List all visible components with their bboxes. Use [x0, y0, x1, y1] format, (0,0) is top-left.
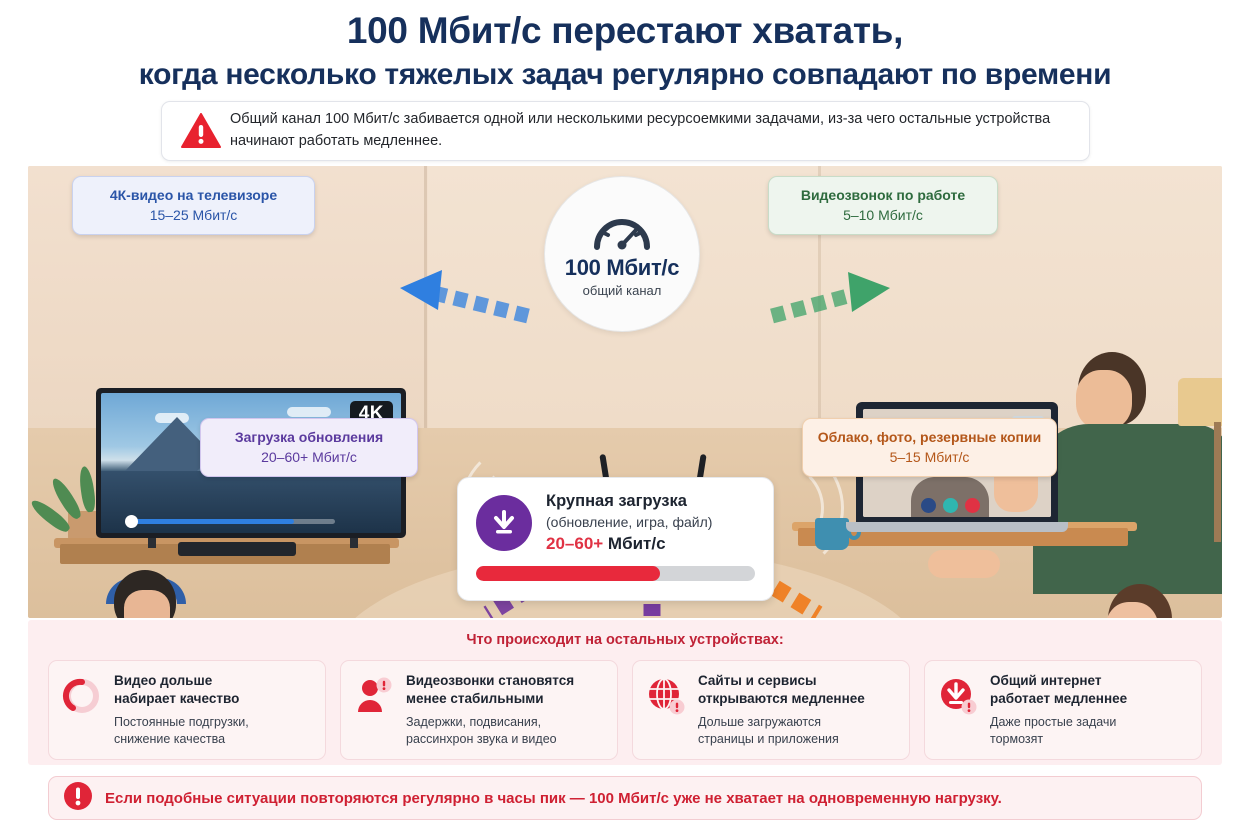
consequence-sites-sub: Дольше загружаются страницы и приложения — [698, 714, 865, 748]
download-circle-icon — [476, 495, 532, 551]
call-end-button[interactable] — [965, 498, 980, 513]
lamp-shade — [1178, 378, 1222, 426]
man-body — [1033, 424, 1222, 594]
consequences-heading: Что происходит на остальных устройствах: — [28, 620, 1222, 648]
download-card-speed-unit: Мбит/с — [603, 534, 665, 553]
infographic-page: 100 Мбит/с перестают хватать, когда неск… — [0, 0, 1250, 833]
large-download-card: Крупная загрузка (обновление, игра, файл… — [457, 477, 774, 601]
consequence-videocall-sub: Задержки, подвисания, рассинхрон звука и… — [406, 714, 574, 748]
callout-tv-speed: 15–25 Мбит/с — [87, 206, 300, 225]
warning-triangle-icon — [178, 113, 224, 149]
consequence-internet-heading: Общий интернет работает медленнее — [990, 672, 1127, 708]
laptop-base — [846, 522, 1068, 532]
call-camera-button[interactable] — [943, 498, 958, 513]
download-card-progress-fill — [476, 566, 660, 581]
speedometer-icon — [591, 211, 653, 251]
callout-videocall: Видеозвонок по работе 5–10 Мбит/с — [768, 176, 998, 235]
download-alert-icon — [937, 672, 979, 748]
download-card-speed-value: 20–60+ — [546, 534, 603, 553]
tv-leg — [148, 538, 156, 548]
man-hand-on-desk — [928, 550, 1000, 578]
callout-tv-title: 4К-видео на телевизоре — [87, 186, 300, 204]
callout-download: Загрузка обновления 20–60+ Мбит/с — [200, 418, 418, 477]
callout-videocall-title: Видеозвонок по работе — [783, 186, 983, 204]
callout-cloud-speed: 5–15 Мбит/с — [817, 448, 1042, 467]
download-card-title: Крупная загрузка — [546, 492, 712, 512]
tv-leg — [350, 538, 358, 548]
speed-gauge: 100 Мбит/с общий канал — [544, 176, 700, 332]
footer-text: Если подобные ситуации повторяются регул… — [93, 790, 1002, 807]
title-line-1: 100 Мбит/с перестают хватать, — [0, 10, 1250, 53]
callout-videocall-speed: 5–10 Мбит/с — [783, 206, 983, 225]
consequence-video-heading: Видео дольше набирает качество — [114, 672, 249, 708]
alert-text: Общий канал 100 Мбит/с забивается одной … — [224, 109, 1073, 153]
call-info-button[interactable] — [921, 498, 936, 513]
consequences-section: Что происходит на остальных устройствах:… — [28, 620, 1222, 765]
download-card-speed: 20–60+ Мбит/с — [546, 534, 712, 554]
gamer-face — [124, 590, 170, 618]
gauge-subtitle: общий канал — [583, 283, 662, 298]
download-card-subtitle: (обновление, игра, файл) — [546, 513, 712, 532]
consequence-card-videocall: Видеозвонки становятся менее стабильными… — [340, 660, 618, 760]
man-face — [1076, 370, 1132, 430]
buffering-ring-icon — [61, 672, 103, 748]
consequences-cards: Видео дольше набирает качество Постоянны… — [28, 648, 1222, 760]
consequence-sites-heading: Сайты и сервисы открываются медленнее — [698, 672, 865, 708]
callout-download-speed: 20–60+ Мбит/с — [215, 448, 403, 467]
cloud-shape — [287, 407, 331, 417]
callout-tv: 4К-видео на телевизоре 15–25 Мбит/с — [72, 176, 315, 235]
coffee-mug — [815, 518, 849, 550]
person-alert-icon — [353, 672, 395, 748]
callout-cloud-title: Облако, фото, резервные копии — [817, 428, 1042, 446]
consequence-card-sites: Сайты и сервисы открываются медленнее До… — [632, 660, 910, 760]
consequence-internet-sub: Даже простые задачи тормозят — [990, 714, 1127, 748]
gauge-value: 100 Мбит/с — [565, 255, 679, 281]
alert-circle-icon — [63, 781, 93, 816]
lamp-pole — [1214, 422, 1221, 542]
footer-banner: Если подобные ситуации повторяются регул… — [48, 776, 1202, 820]
callout-download-title: Загрузка обновления — [215, 428, 403, 446]
tv-playback-bar[interactable] — [131, 519, 335, 524]
consequence-card-internet: Общий интернет работает медленнее Даже п… — [924, 660, 1202, 760]
consequence-card-video: Видео дольше набирает качество Постоянны… — [48, 660, 326, 760]
page-title: 100 Мбит/с перестают хватать, когда неск… — [0, 0, 1250, 93]
wall-seam-left — [424, 166, 427, 428]
tv-playback-fill — [131, 519, 294, 524]
download-card-progress — [476, 566, 755, 581]
consequence-videocall-heading: Видеозвонки становятся менее стабильными — [406, 672, 574, 708]
globe-alert-icon — [645, 672, 687, 748]
consequence-video-sub: Постоянные подгрузки, снижение качества — [114, 714, 249, 748]
title-line-2: когда несколько тяжелых задач регулярно … — [0, 57, 1250, 93]
alert-banner: Общий канал 100 Мбит/с забивается одной … — [161, 101, 1090, 161]
soundbar — [178, 542, 296, 556]
callout-cloud: Облако, фото, резервные копии 5–15 Мбит/… — [802, 418, 1057, 477]
tv-playback-knob[interactable] — [125, 515, 138, 528]
